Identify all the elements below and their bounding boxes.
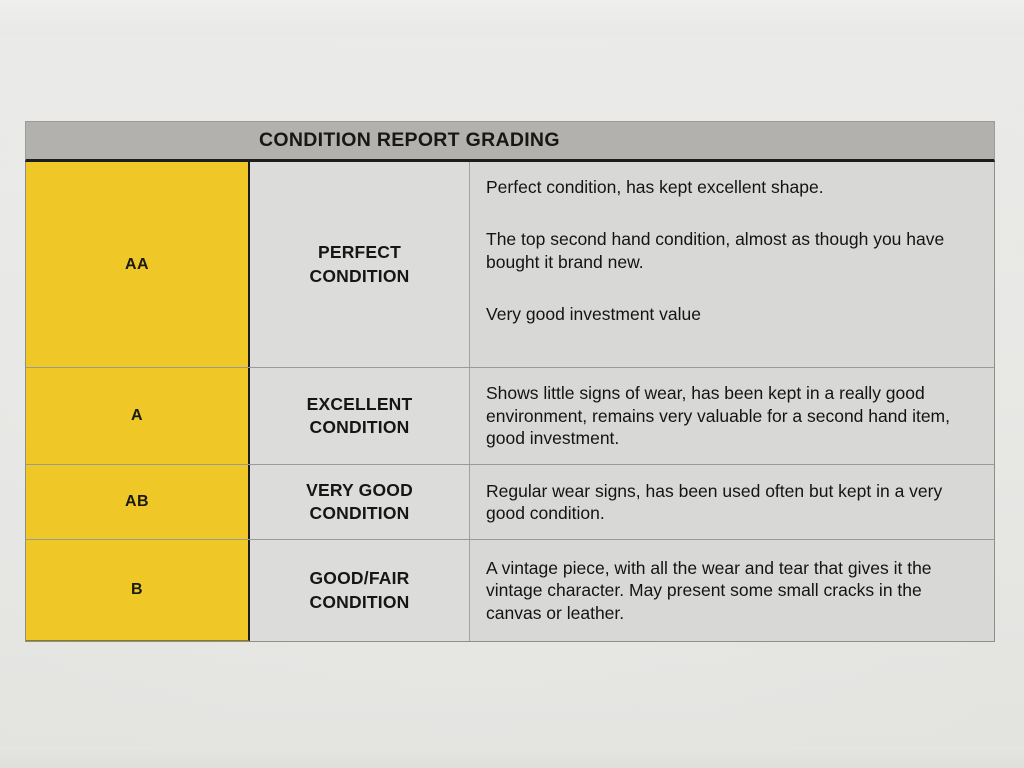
condition-label-line2: CONDITION: [310, 591, 410, 614]
description-paragraph: A vintage piece, with all the wear and t…: [486, 557, 976, 624]
condition-description-cell: Regular wear signs, has been used often …: [470, 465, 994, 539]
grade-code: AA: [125, 256, 149, 274]
condition-label-line1: EXCELLENT: [307, 393, 413, 416]
condition-label-cell: VERY GOOD CONDITION: [250, 465, 470, 539]
condition-label-cell: PERFECT CONDITION: [250, 162, 470, 367]
grade-code-cell: A: [26, 368, 250, 464]
paper-edge-bottom: [0, 746, 1024, 768]
condition-report-grading-table: CONDITION REPORT GRADING AA PERFECT COND…: [25, 121, 995, 642]
condition-label-cell: GOOD/FAIR CONDITION: [250, 540, 470, 641]
grade-code-cell: AB: [26, 465, 250, 539]
condition-label-line2: CONDITION: [310, 265, 410, 288]
table-row: AA PERFECT CONDITION Perfect condition, …: [26, 162, 994, 368]
description-paragraph: Very good investment value: [486, 303, 976, 325]
paper-edge-top: [0, 0, 1024, 34]
condition-label-line1: VERY GOOD: [306, 479, 413, 502]
table-row: A EXCELLENT CONDITION Shows little signs…: [26, 368, 994, 465]
description-paragraph: The top second hand condition, almost as…: [486, 228, 976, 273]
condition-label-line2: CONDITION: [310, 502, 410, 525]
condition-label-cell: EXCELLENT CONDITION: [250, 368, 470, 464]
grade-code: A: [131, 407, 143, 425]
condition-description-cell: Perfect condition, has kept excellent sh…: [470, 162, 994, 367]
grading-grid: AA PERFECT CONDITION Perfect condition, …: [25, 162, 995, 642]
page-title: CONDITION REPORT GRADING: [259, 129, 560, 152]
condition-description-cell: A vintage piece, with all the wear and t…: [470, 540, 994, 641]
description-paragraph: Shows little signs of wear, has been kep…: [486, 382, 976, 449]
table-row: AB VERY GOOD CONDITION Regular wear sign…: [26, 465, 994, 540]
grade-code-cell: B: [26, 540, 250, 641]
grade-code: B: [131, 581, 143, 599]
grade-code: AB: [125, 493, 149, 511]
condition-label-line1: PERFECT: [318, 241, 401, 264]
table-title-bar: CONDITION REPORT GRADING: [25, 121, 995, 162]
grade-code-cell: AA: [26, 162, 250, 367]
table-row: B GOOD/FAIR CONDITION A vintage piece, w…: [26, 540, 994, 641]
description-paragraph: Perfect condition, has kept excellent sh…: [486, 176, 976, 198]
condition-label-line1: GOOD/FAIR: [310, 567, 410, 590]
condition-description-cell: Shows little signs of wear, has been kep…: [470, 368, 994, 464]
condition-label-line2: CONDITION: [310, 416, 410, 439]
description-paragraph: Regular wear signs, has been used often …: [486, 480, 976, 525]
